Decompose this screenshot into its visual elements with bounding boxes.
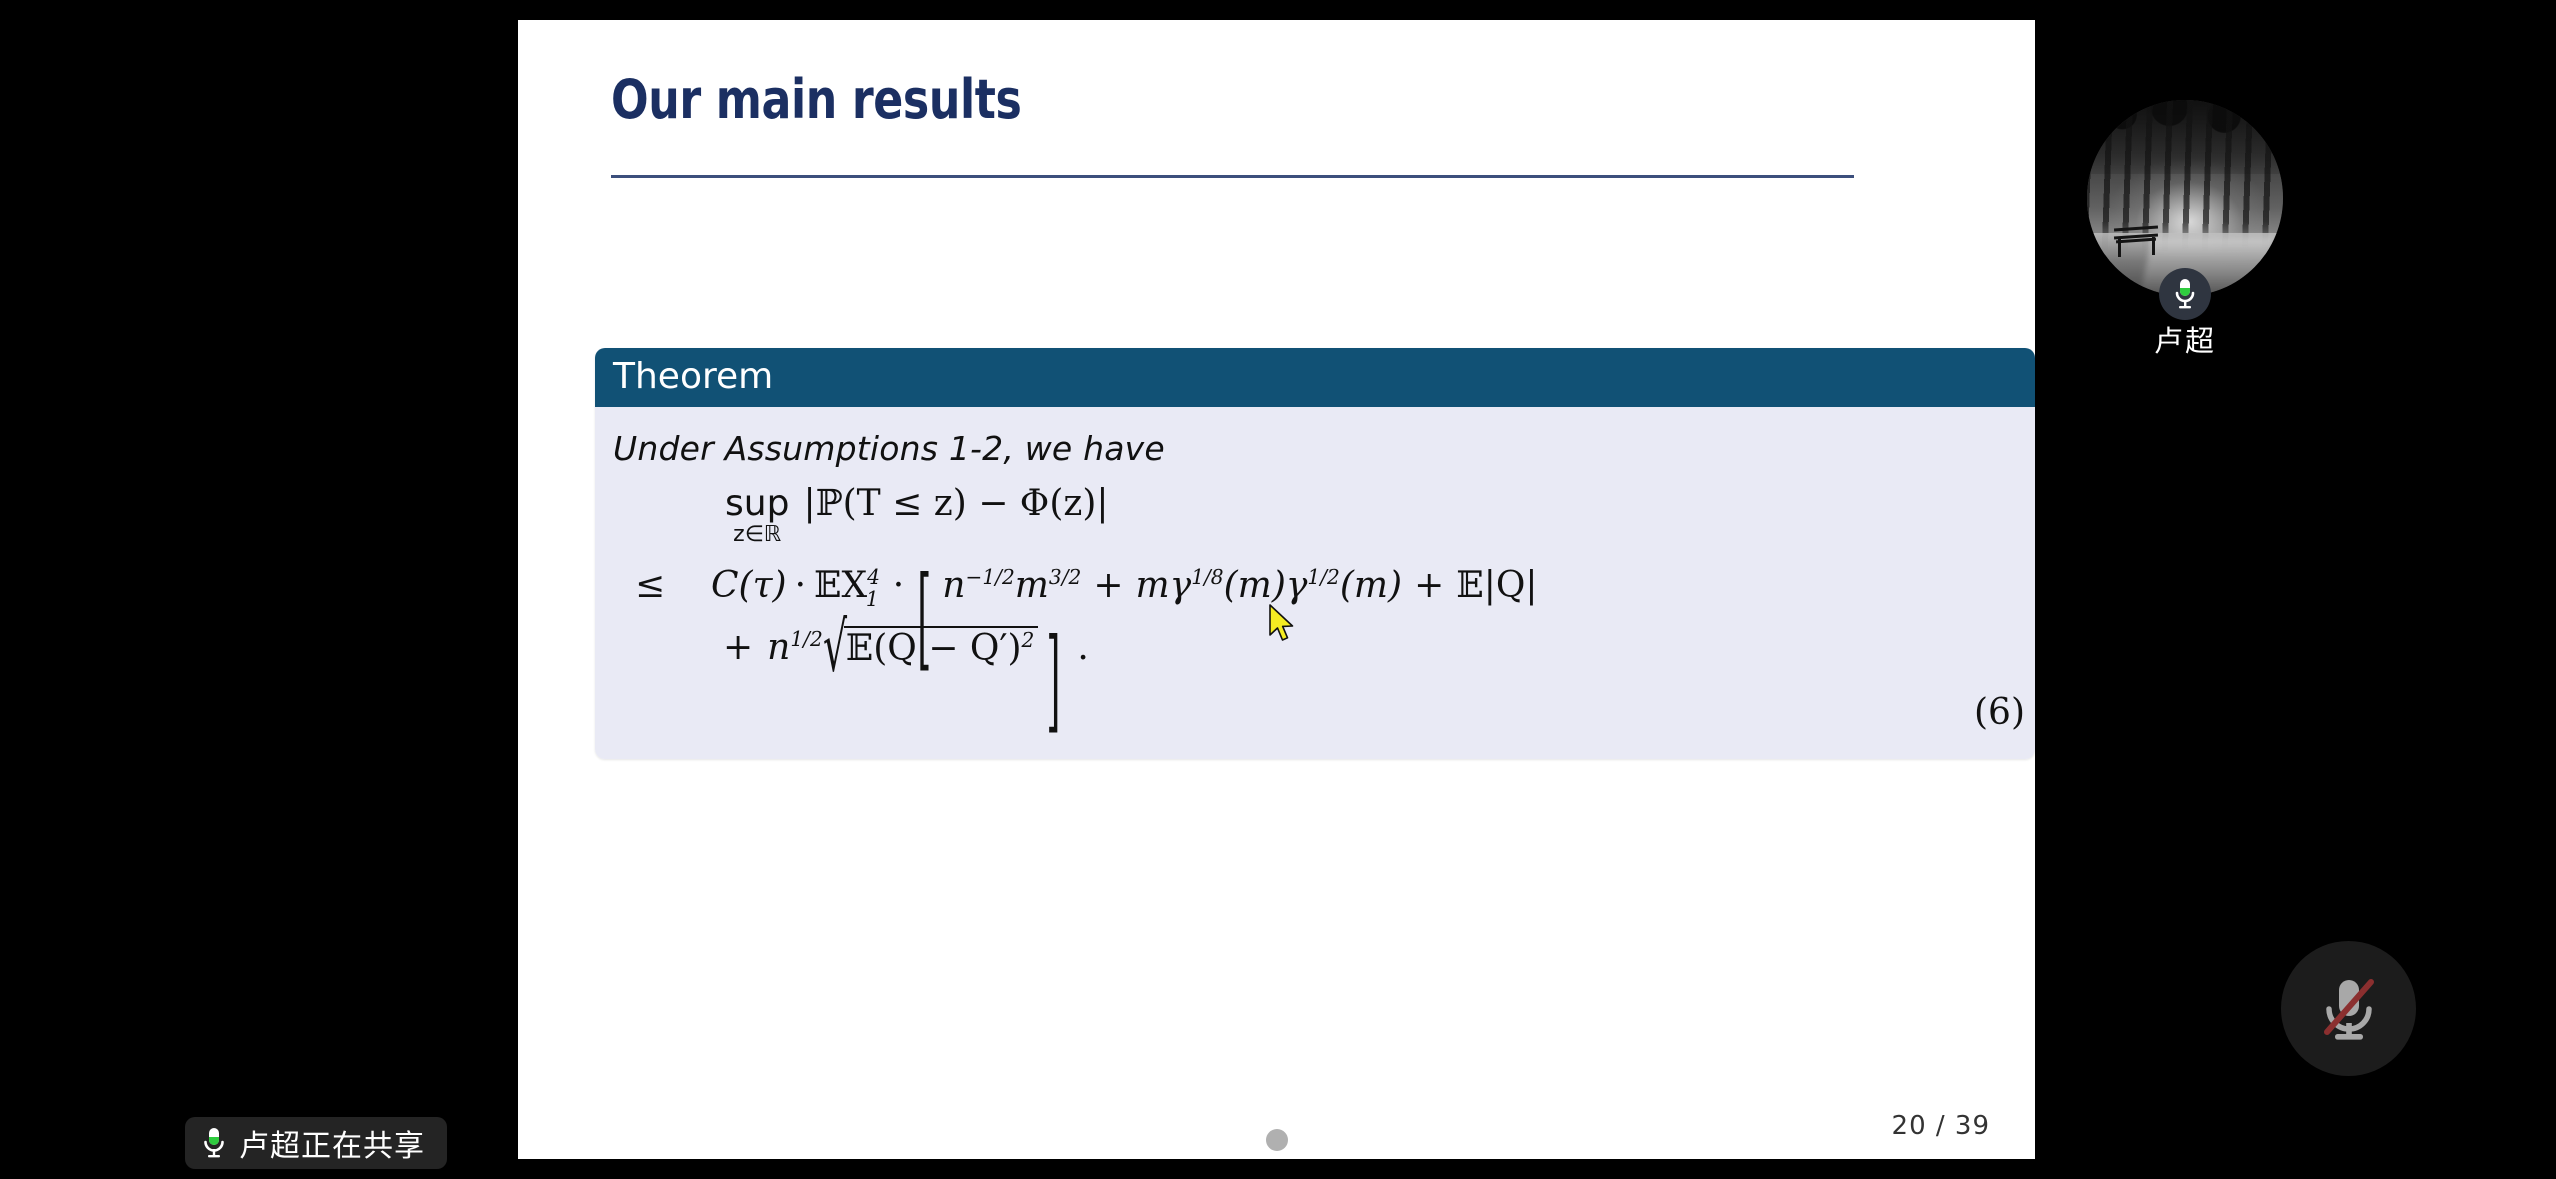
mute-toggle-button[interactable] [2281, 941, 2416, 1076]
term-n-power: n−1/2 [942, 568, 1015, 604]
plus-operator-2: + [1414, 568, 1444, 604]
expectation-base: 𝔼X [814, 565, 867, 606]
equation-line-1: sup z∈ℝ |ℙ(T ≤ z) − Φ(z)| [725, 486, 2005, 546]
avatar [2087, 100, 2283, 296]
gamma-second-argument: (m) [1340, 565, 1402, 606]
theorem-equation: sup z∈ℝ |ℙ(T ≤ z) − Φ(z)| ≤ C(τ) · 𝔼X41 [613, 486, 2005, 671]
theorem-header: Theorem [595, 348, 2035, 407]
dot-operator-1: · [795, 568, 806, 604]
radicand-expression: 𝔼(Q − Q′) [846, 628, 1022, 669]
title-underline-rule [611, 175, 1854, 178]
microphone-active-badge [2159, 268, 2211, 320]
theorem-statement: Under Assumptions 1-2, we have [613, 429, 2005, 468]
participant-name: 卢超 [2085, 318, 2285, 360]
term-m-base: m [1015, 565, 1049, 606]
equation-line-1-body: |ℙ(T ≤ z) − Φ(z)| [803, 486, 1108, 522]
avatar-bench [2114, 225, 2160, 259]
square-root: √ 𝔼(Q − Q′)2 [823, 630, 1039, 671]
dot-operator-2: · [893, 568, 904, 604]
gamma-second-base: γ [1286, 565, 1308, 606]
gamma-second-exponent: 1/2 [1307, 565, 1339, 589]
theorem-block: Theorem Under Assumptions 1-2, we have s… [595, 348, 2035, 759]
page-counter: 20 / 39 [1892, 1111, 1990, 1141]
constant-C-tau: C(τ) [711, 568, 787, 604]
term-n-half: n1/2 [767, 630, 823, 666]
microphone-muted-icon [2312, 969, 2386, 1049]
term-m-factor: m [1136, 568, 1170, 604]
shared-slide[interactable]: Our main results Theorem Under Assumptio… [518, 20, 2035, 1159]
term-n-half-exponent: 1/2 [790, 627, 822, 651]
equation-number: (6) [1974, 692, 2025, 733]
expectation-abs-Q: 𝔼|Q| [1456, 568, 1537, 604]
term-m-exponent: 3/2 [1049, 565, 1081, 589]
plus-operator-3: + [723, 630, 753, 666]
microphone-icon [2170, 277, 2200, 311]
supremum-operator: sup z∈ℝ [725, 486, 789, 546]
participant-tile[interactable]: 卢超 [2085, 100, 2285, 360]
term-n-half-base: n [767, 627, 790, 668]
page-title: Our main results [611, 68, 1021, 131]
radicand: 𝔼(Q − Q′)2 [844, 626, 1039, 667]
term-n-base: n [942, 565, 965, 606]
equation-line-2: ≤ C(τ) · 𝔼X41 · [ n−1/2 m3/2 [613, 568, 2005, 604]
equation-period: . [1077, 630, 1088, 666]
sup-base: sup [725, 486, 789, 522]
theorem-body: Under Assumptions 1-2, we have sup z∈ℝ |… [595, 407, 2035, 759]
relation-leq: ≤ [635, 568, 711, 604]
radicand-exponent: 2 [1022, 628, 1035, 652]
gamma-second: γ1/2(m) [1286, 568, 1402, 604]
plus-operator-1: + [1093, 568, 1123, 604]
sharing-status-pill: 卢超正在共享 [185, 1117, 447, 1169]
gamma-first-base: γ [1170, 565, 1192, 606]
gamma-first-exponent: 1/8 [1191, 565, 1223, 589]
microphone-icon [199, 1125, 229, 1161]
bracket-close: ] [1046, 629, 1060, 741]
gamma-first: γ1/8(m) [1170, 568, 1286, 604]
equation-line-3: + n1/2 √ 𝔼(Q − Q′)2 ] . [723, 630, 2005, 671]
term-m-power: m3/2 [1015, 568, 1082, 604]
expectation-X1-fourth: 𝔼X41 [814, 568, 879, 604]
screen-share-stage: Our main results Theorem Under Assumptio… [0, 0, 2556, 1179]
page-navigation-dot[interactable] [1266, 1129, 1288, 1151]
term-n-exponent: −1/2 [965, 565, 1014, 589]
sharing-status-label: 卢超正在共享 [239, 1121, 425, 1165]
sup-subscript: z∈ℝ [733, 524, 781, 546]
expectation-index: 1 [866, 587, 879, 611]
gamma-first-argument: (m) [1224, 565, 1286, 606]
expectation-exponent: 4 [867, 565, 880, 589]
